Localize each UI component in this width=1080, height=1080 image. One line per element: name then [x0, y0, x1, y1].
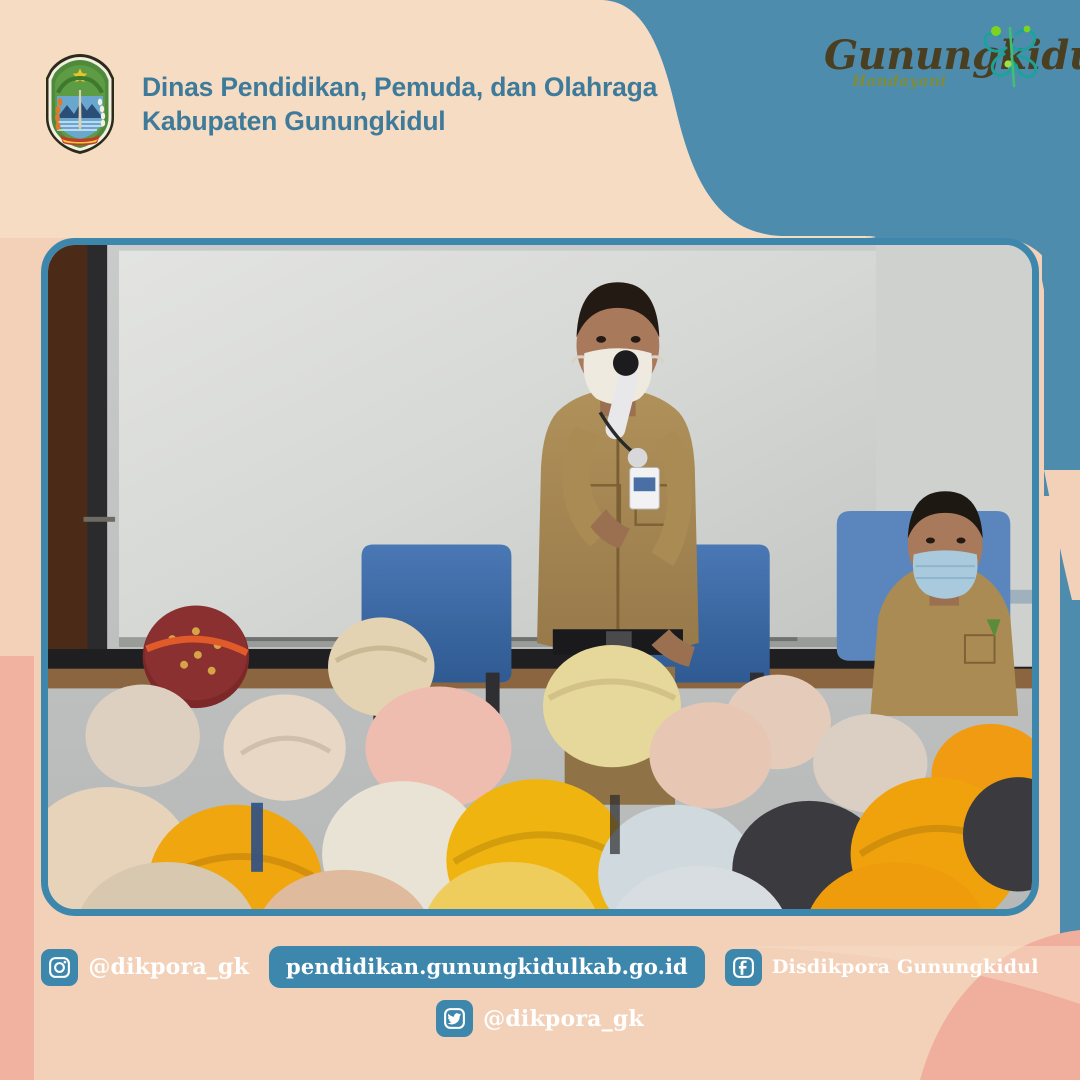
footer-social-bar: @dikpora_gk pendidikan.gunungkidulkab.go…: [0, 946, 1080, 1037]
header: Dinas Pendidikan, Pemuda, dan Olahraga K…: [40, 52, 657, 156]
twitter-icon[interactable]: [436, 1000, 473, 1037]
twitter-handle-label: @dikpora_gk: [483, 1006, 644, 1032]
org-title-line-2: Kabupaten Gunungkidul: [142, 104, 657, 138]
organization-title: Dinas Pendidikan, Pemuda, dan Olahraga K…: [142, 70, 657, 139]
footer-row-primary: @dikpora_gk pendidikan.gunungkidulkab.go…: [0, 946, 1080, 988]
instagram-icon[interactable]: [41, 949, 78, 986]
org-title-line-1: Dinas Pendidikan, Pemuda, dan Olahraga: [142, 72, 657, 102]
facebook-page-label: Disdikpora Gunungkidul: [772, 956, 1039, 978]
gunungkidul-regency-emblem-icon: [40, 52, 120, 156]
event-photograph: [48, 245, 1032, 909]
gunungkidul-brand-logo: Gunungkidul Handayani: [816, 36, 1046, 90]
photo-frame: [41, 238, 1039, 916]
website-url-pill[interactable]: pendidikan.gunungkidulkab.go.id: [269, 946, 705, 988]
dragonfly-flourish-icon: [974, 20, 1052, 94]
poster-canvas: Dinas Pendidikan, Pemuda, dan Olahraga K…: [0, 0, 1080, 1080]
facebook-icon[interactable]: [725, 949, 762, 986]
twitter-handle-item[interactable]: @dikpora_gk: [436, 1000, 644, 1037]
instagram-handle-label: @dikpora_gk: [88, 954, 249, 980]
instagram-handle-item[interactable]: @dikpora_gk: [41, 949, 249, 986]
footer-row-secondary: @dikpora_gk: [0, 1000, 1080, 1037]
facebook-page-item[interactable]: Disdikpora Gunungkidul: [725, 949, 1039, 986]
